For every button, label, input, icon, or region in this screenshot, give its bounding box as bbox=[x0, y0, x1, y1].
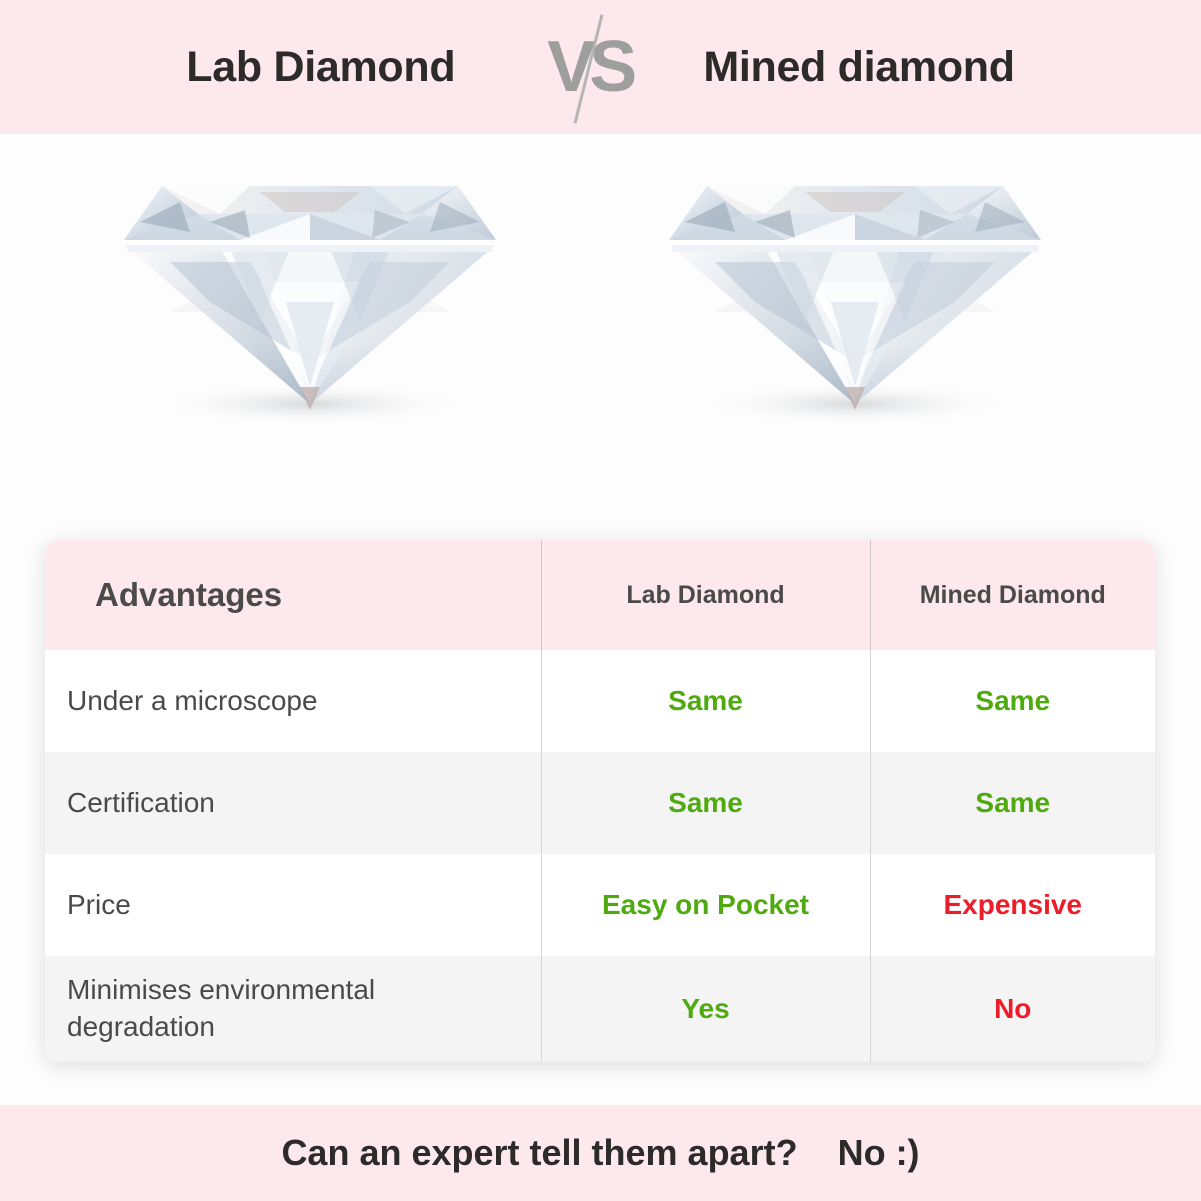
row-value-mined: Same bbox=[870, 752, 1155, 854]
table-row: Price Easy on Pocket Expensive bbox=[45, 854, 1155, 956]
diamond-graphic-lab bbox=[110, 152, 510, 482]
row-label: Price bbox=[45, 854, 541, 956]
mined-diamond-image bbox=[655, 152, 1055, 482]
header-title-mined: Mined diamond bbox=[703, 43, 1014, 92]
column-header-mined-diamond: Mined Diamond bbox=[870, 540, 1155, 650]
comparison-card: Advantages Lab Diamond Mined Diamond Und… bbox=[45, 540, 1155, 1062]
versus-badge: VS bbox=[541, 7, 637, 127]
row-label: Under a microscope bbox=[45, 650, 541, 752]
lab-diamond-image bbox=[110, 152, 510, 482]
diamond-showcase bbox=[0, 134, 1201, 534]
row-value-mined: Expensive bbox=[870, 854, 1155, 956]
header-title-lab: Lab Diamond bbox=[186, 43, 455, 92]
row-value-lab: Same bbox=[541, 650, 870, 752]
footer-banner: Can an expert tell them apart? No :) bbox=[0, 1105, 1201, 1201]
column-header-advantages: Advantages bbox=[45, 540, 541, 650]
row-value-lab: Yes bbox=[541, 956, 870, 1062]
header-banner: Lab Diamond VS Mined diamond bbox=[0, 0, 1201, 134]
table-row: Under a microscope Same Same bbox=[45, 650, 1155, 752]
row-label: Certification bbox=[45, 752, 541, 854]
column-header-lab-diamond: Lab Diamond bbox=[541, 540, 870, 650]
comparison-table: Advantages Lab Diamond Mined Diamond Und… bbox=[45, 540, 1155, 1062]
footer-answer: No :) bbox=[838, 1132, 920, 1174]
row-value-mined: No bbox=[870, 956, 1155, 1062]
footer-question: Can an expert tell them apart? bbox=[281, 1132, 797, 1174]
row-label: Minimises environmental degradation bbox=[45, 956, 541, 1062]
diamond-graphic-mined bbox=[655, 152, 1055, 482]
table-row: Certification Same Same bbox=[45, 752, 1155, 854]
row-value-lab: Same bbox=[541, 752, 870, 854]
row-value-mined: Same bbox=[870, 650, 1155, 752]
table-header-row: Advantages Lab Diamond Mined Diamond bbox=[45, 540, 1155, 650]
table-row: Minimises environmental degradation Yes … bbox=[45, 956, 1155, 1062]
row-value-lab: Easy on Pocket bbox=[541, 854, 870, 956]
